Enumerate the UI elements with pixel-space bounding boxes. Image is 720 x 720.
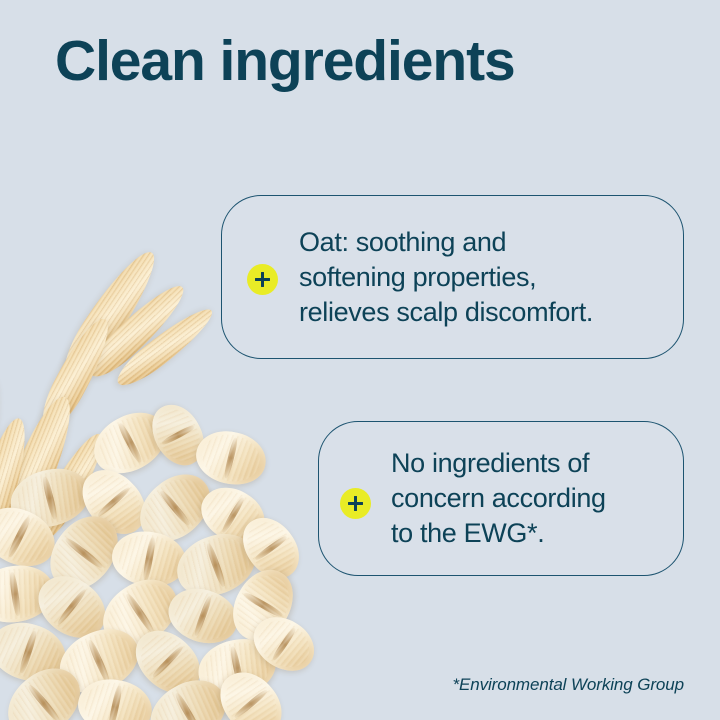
benefit-card-text: Oat: soothing and softening properties, …: [299, 225, 593, 330]
footnote: *Environmental Working Group: [452, 675, 684, 695]
benefit-card-text: No ingredients of concern according to t…: [391, 446, 606, 551]
plus-icon: [247, 264, 278, 295]
promo-card: Clean ingredients Oat: soothing and soft…: [0, 0, 720, 720]
plus-glyph: [255, 272, 270, 287]
page-title: Clean ingredients: [55, 32, 515, 92]
benefit-card-oat[interactable]: Oat: soothing and softening properties, …: [221, 195, 684, 359]
plus-glyph: [348, 496, 363, 511]
plus-icon: [340, 488, 371, 519]
benefit-card-ewg[interactable]: No ingredients of concern according to t…: [318, 421, 684, 576]
